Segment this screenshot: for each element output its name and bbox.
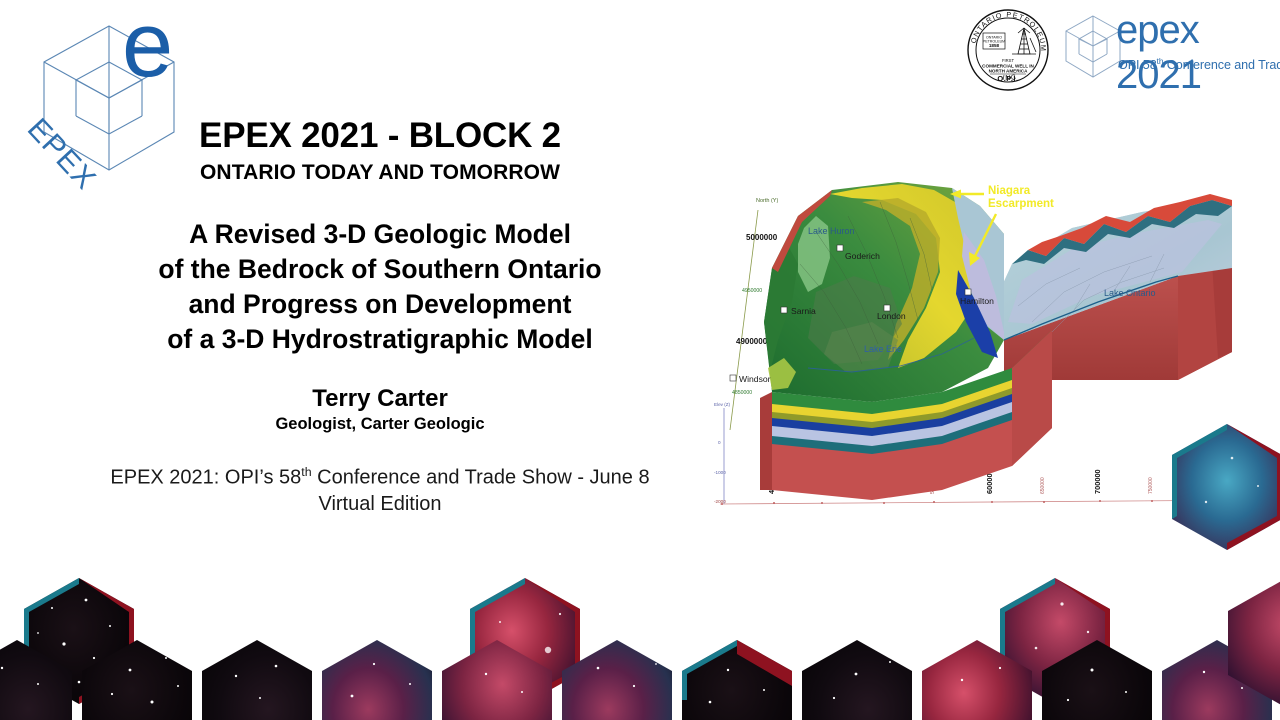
conference-info: EPEX 2021: OPI’s 58th Conference and Tra… xyxy=(60,464,700,519)
opi-seal-logo: ONTARIO PETROLEUM INSTITUTE INC ONTARIO … xyxy=(966,8,1050,92)
eastern-block: Lake Ontario xyxy=(990,194,1232,380)
depth-axis-label: Elev (Z) xyxy=(714,402,731,407)
hexagon-tile xyxy=(562,640,672,720)
conference-line-1: EPEX 2021: OPI’s 58th Conference and Tra… xyxy=(60,464,700,492)
north-tick-0: 5000000 xyxy=(746,233,778,242)
epex-2021-wordmark-logo: epex 2021 OPI 58th Conference and Trade … xyxy=(1062,6,1274,86)
city-marker-hamilton xyxy=(965,289,971,295)
conference-line-1-pre: EPEX 2021: OPI’s 58 xyxy=(110,466,301,488)
conference-ordinal-suffix: th xyxy=(301,465,311,479)
opi-motto-line-3: NORTH AMERICA xyxy=(989,69,1029,74)
hexagon-tile xyxy=(802,640,912,720)
epex-logo-letter-e: e xyxy=(122,4,173,96)
conference-line-1-post: Conference and Trade Show - June 8 xyxy=(312,466,650,488)
hexagon-tile xyxy=(1000,578,1110,704)
lake-label-ontario: Lake Ontario xyxy=(1104,288,1156,298)
north-axis-label: North (Y) xyxy=(756,198,778,204)
hexagon-tile xyxy=(322,640,432,720)
north-tick-1: 4950000 xyxy=(742,288,762,294)
city-marker-windsor xyxy=(730,375,736,381)
depth-tick-2: -2000 xyxy=(714,499,726,504)
city-marker-sarnia xyxy=(781,307,787,313)
depth-tick-1: -1000 xyxy=(714,470,726,475)
east-tick-7: 750000 xyxy=(1148,477,1154,494)
hexagon-tile xyxy=(1228,580,1280,706)
hexagon-tile xyxy=(24,578,134,704)
hexagon-tile xyxy=(442,640,552,720)
paper-title-line-3: and Progress on Development xyxy=(60,287,700,322)
paper-title-line-4: of a 3-D Hydrostratigraphic Model xyxy=(60,322,700,357)
title-block: EPEX 2021 - BLOCK 2 ONTARIO TODAY AND TO… xyxy=(60,118,700,518)
epex-mark-word: epex 2021 xyxy=(1116,8,1274,98)
annotation-line-2: Escarpment xyxy=(988,198,1054,210)
east-tick-6: 700000 xyxy=(1093,469,1102,494)
conference-line-2: Virtual Edition xyxy=(60,491,700,518)
opi-motto-line-1: FIRST xyxy=(1002,58,1015,63)
page-title: EPEX 2021 - BLOCK 2 xyxy=(60,118,700,155)
hexagon-tile xyxy=(202,640,312,720)
hexagon-tile xyxy=(1162,640,1272,720)
page-subtitle: ONTARIO TODAY AND TOMORROW xyxy=(60,161,700,185)
author-affiliation: Geologist, Carter Geologic xyxy=(60,415,700,434)
opi-initials: O.P.I. xyxy=(997,74,1018,83)
hexagon-tile xyxy=(922,640,1032,720)
hexagon-tile xyxy=(82,640,192,720)
epex-mark-tagline-post: Conference and Trade Show xyxy=(1163,58,1280,72)
annotation-line-1: Niagara xyxy=(988,185,1031,197)
hexagon-tile xyxy=(682,640,792,720)
epex-mark-tagline: OPI 58th Conference and Trade Show xyxy=(1118,56,1280,72)
city-marker-goderich xyxy=(837,245,843,251)
east-tick-5: 650000 xyxy=(1040,477,1046,494)
paper-title-line-1: A Revised 3-D Geologic Model xyxy=(60,217,700,252)
lake-label-huron: Lake Huron xyxy=(808,226,855,236)
epex-mark-cube-icon xyxy=(1062,12,1124,82)
paper-title: A Revised 3-D Geologic Model of the Bedr… xyxy=(60,217,700,357)
city-label-windsor: Windsor xyxy=(739,374,771,384)
epex-mark-tagline-pre: OPI 58 xyxy=(1118,58,1157,72)
hexagon-tile xyxy=(470,578,580,704)
author-name: Terry Carter xyxy=(60,385,700,413)
geologic-block-model-figure: North (Y) 5000000 4950000 4900000 485000… xyxy=(712,172,1268,520)
hexagon-tile xyxy=(1042,640,1152,720)
hexagon-tile xyxy=(0,640,72,720)
north-tick-2: 4900000 xyxy=(736,337,768,346)
opi-plaque-year: 1858 xyxy=(989,43,1000,48)
city-label-london: London xyxy=(877,311,906,321)
hexagon-edge-accent xyxy=(737,640,792,686)
paper-title-line-2: of the Bedrock of Southern Ontario xyxy=(60,252,700,287)
north-tick-3: 4850000 xyxy=(732,390,752,396)
city-label-sarnia: Sarnia xyxy=(791,306,816,316)
depth-tick-0: 0 xyxy=(718,440,721,445)
city-label-goderich: Goderich xyxy=(845,251,880,261)
slide-root: e EPEX EPEX 2021 - BLOCK 2 ONTARIO TODAY… xyxy=(0,0,1280,720)
city-label-hamilton: Hamilton xyxy=(960,296,994,306)
lake-label-erie: Lake Erie xyxy=(864,344,902,354)
